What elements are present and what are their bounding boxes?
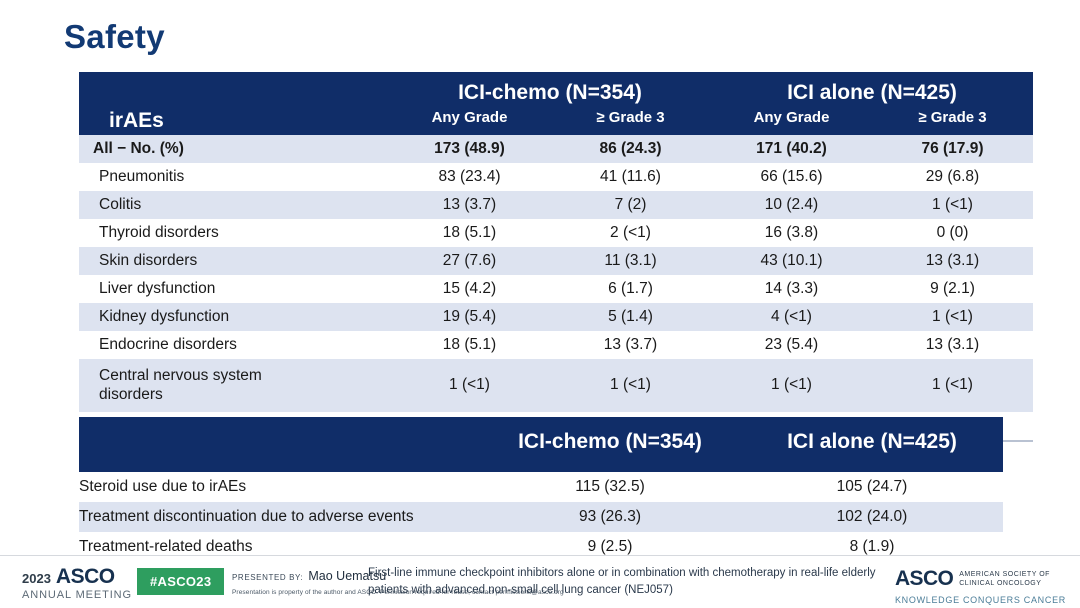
summary-header-ici-chemo: ICI-chemo (N=354) [479, 417, 741, 472]
row-value: 29 (6.8) [872, 163, 1033, 191]
row-value: 2 (<1) [550, 219, 711, 247]
row-label: Kidney dysfunction [79, 303, 389, 331]
row-label: Skin disorders [79, 247, 389, 275]
summary-table-body: Steroid use due to irAEs 115 (32.5) 105 … [79, 472, 1003, 563]
row-value: 93 (26.3) [479, 502, 741, 532]
meeting-year: 2023 [22, 572, 51, 585]
asco-tagline: KNOWLEDGE CONQUERS CANCER [895, 595, 1066, 605]
row-value: 86 (24.3) [550, 135, 711, 163]
row-value: 1 (<1) [872, 359, 1033, 412]
summary-table: ICI-chemo (N=354) ICI alone (N=425) Ster… [79, 417, 1003, 564]
page-title: Safety [64, 18, 165, 56]
irae-subheader-chemo-any-grade: Any Grade [389, 107, 550, 135]
row-value: 171 (40.2) [711, 135, 872, 163]
summary-header-ici-alone: ICI alone (N=425) [741, 417, 1003, 472]
irae-header-group-ici-alone: ICI alone (N=425) [711, 72, 1033, 107]
row-label: Thyroid disorders [79, 219, 389, 247]
row-label: Pneumonitis [79, 163, 389, 191]
row-label: Central nervous system disorders [79, 359, 389, 412]
row-value: 0 (0) [872, 219, 1033, 247]
row-label: All − No. (%) [79, 135, 389, 163]
row-value: 41 (11.6) [550, 163, 711, 191]
row-value: 173 (48.9) [389, 135, 550, 163]
asco-society-line1: AMERICAN SOCIETY OF [959, 571, 1050, 578]
row-value: 1 (<1) [872, 303, 1033, 331]
row-label: Endocrine disorders [79, 331, 389, 359]
row-value: 13 (3.1) [872, 247, 1033, 275]
row-value: 1 (<1) [550, 359, 711, 412]
row-label: Liver dysfunction [79, 275, 389, 303]
row-value: 83 (23.4) [389, 163, 550, 191]
summary-table-head: ICI-chemo (N=354) ICI alone (N=425) [79, 417, 1003, 472]
table-row: Thyroid disorders 18 (5.1) 2 (<1) 16 (3.… [79, 219, 1033, 247]
irae-header-row-groups: irAEs ICI-chemo (N=354) ICI alone (N=425… [79, 72, 1033, 107]
table-row: Liver dysfunction 15 (4.2) 6 (1.7) 14 (3… [79, 275, 1033, 303]
table-row: Endocrine disorders 18 (5.1) 13 (3.7) 23… [79, 331, 1033, 359]
asco-annual-meeting-logo: 2023 ASCO ANNUAL MEETING [22, 566, 132, 601]
row-value: 7 (2) [550, 191, 711, 219]
row-value: 6 (1.7) [550, 275, 711, 303]
table-row: Kidney dysfunction 19 (5.4) 5 (1.4) 4 (<… [79, 303, 1033, 331]
table-row: Pneumonitis 83 (23.4) 41 (11.6) 66 (15.6… [79, 163, 1033, 191]
summary-header-row: ICI-chemo (N=354) ICI alone (N=425) [79, 417, 1003, 472]
summary-table-container: ICI-chemo (N=354) ICI alone (N=425) Ster… [79, 417, 1003, 564]
row-value: 11 (3.1) [550, 247, 711, 275]
asco-wordmark: ASCO [895, 567, 953, 591]
irae-subheader-chemo-grade3: ≥ Grade 3 [550, 107, 711, 135]
row-value: 115 (32.5) [479, 472, 741, 502]
row-value: 1 (<1) [872, 191, 1033, 219]
row-value: 27 (7.6) [389, 247, 550, 275]
row-value: 43 (10.1) [711, 247, 872, 275]
row-value: 1 (<1) [711, 359, 872, 412]
row-value: 14 (3.3) [711, 275, 872, 303]
meeting-subtitle: ANNUAL MEETING [22, 590, 132, 601]
table-row: Steroid use due to irAEs 115 (32.5) 105 … [79, 472, 1003, 502]
asco-brand-top: ASCO AMERICAN SOCIETY OF CLINICAL ONCOLO… [895, 567, 1066, 591]
asco-society-line2: CLINICAL ONCOLOGY [959, 580, 1041, 587]
row-label: Steroid use due to irAEs [79, 472, 479, 502]
irae-table-container: irAEs ICI-chemo (N=354) ICI alone (N=425… [79, 72, 1003, 442]
slide-footer: 2023 ASCO ANNUAL MEETING #ASCO23 PRESENT… [0, 555, 1080, 608]
row-value: 4 (<1) [711, 303, 872, 331]
irae-subheader-alone-grade3: ≥ Grade 3 [872, 107, 1033, 135]
meeting-asco-wordmark: ASCO [56, 566, 115, 587]
row-value: 102 (24.0) [741, 502, 1003, 532]
row-value: 16 (3.8) [711, 219, 872, 247]
row-value: 9 (2.1) [872, 275, 1033, 303]
asco-meeting-logo-row: 2023 ASCO [22, 566, 132, 587]
irae-subheader-alone-any-grade: Any Grade [711, 107, 872, 135]
asco-society-text: AMERICAN SOCIETY OF CLINICAL ONCOLOGY [959, 570, 1050, 589]
table-row: Colitis 13 (3.7) 7 (2) 10 (2.4) 1 (<1) [79, 191, 1033, 219]
footer-inner: 2023 ASCO ANNUAL MEETING #ASCO23 PRESENT… [0, 556, 1080, 608]
row-value: 13 (3.7) [389, 191, 550, 219]
summary-header-blank [79, 417, 479, 472]
row-label: Treatment discontinuation due to adverse… [79, 502, 479, 532]
row-value: 5 (1.4) [550, 303, 711, 331]
row-value: 10 (2.4) [711, 191, 872, 219]
table-row: All − No. (%) 173 (48.9) 86 (24.3) 171 (… [79, 135, 1033, 163]
row-value: 105 (24.7) [741, 472, 1003, 502]
irae-header-group-ici-chemo: ICI-chemo (N=354) [389, 72, 711, 107]
row-value: 18 (5.1) [389, 331, 550, 359]
row-value: 1 (<1) [389, 359, 550, 412]
irae-table-body: All − No. (%) 173 (48.9) 86 (24.3) 171 (… [79, 135, 1033, 441]
row-value: 66 (15.6) [711, 163, 872, 191]
row-value: 15 (4.2) [389, 275, 550, 303]
irae-table-head: irAEs ICI-chemo (N=354) ICI alone (N=425… [79, 72, 1033, 135]
presented-by-label: PRESENTED BY: [232, 573, 303, 582]
row-value: 18 (5.1) [389, 219, 550, 247]
row-value: 23 (5.4) [711, 331, 872, 359]
table-row: Skin disorders 27 (7.6) 11 (3.1) 43 (10.… [79, 247, 1033, 275]
row-value: 13 (3.1) [872, 331, 1033, 359]
row-value: 19 (5.4) [389, 303, 550, 331]
table-row: Central nervous system disorders 1 (<1) … [79, 359, 1033, 412]
irae-table: irAEs ICI-chemo (N=354) ICI alone (N=425… [79, 72, 1033, 442]
row-label: Colitis [79, 191, 389, 219]
hashtag-badge: #ASCO23 [137, 568, 224, 595]
row-value: 13 (3.7) [550, 331, 711, 359]
study-title: First-line immune checkpoint inhibitors … [368, 565, 878, 598]
irae-header-label: irAEs [79, 72, 389, 135]
asco-brand-logo: ASCO AMERICAN SOCIETY OF CLINICAL ONCOLO… [895, 567, 1066, 605]
row-value: 76 (17.9) [872, 135, 1033, 163]
table-row: Treatment discontinuation due to adverse… [79, 502, 1003, 532]
